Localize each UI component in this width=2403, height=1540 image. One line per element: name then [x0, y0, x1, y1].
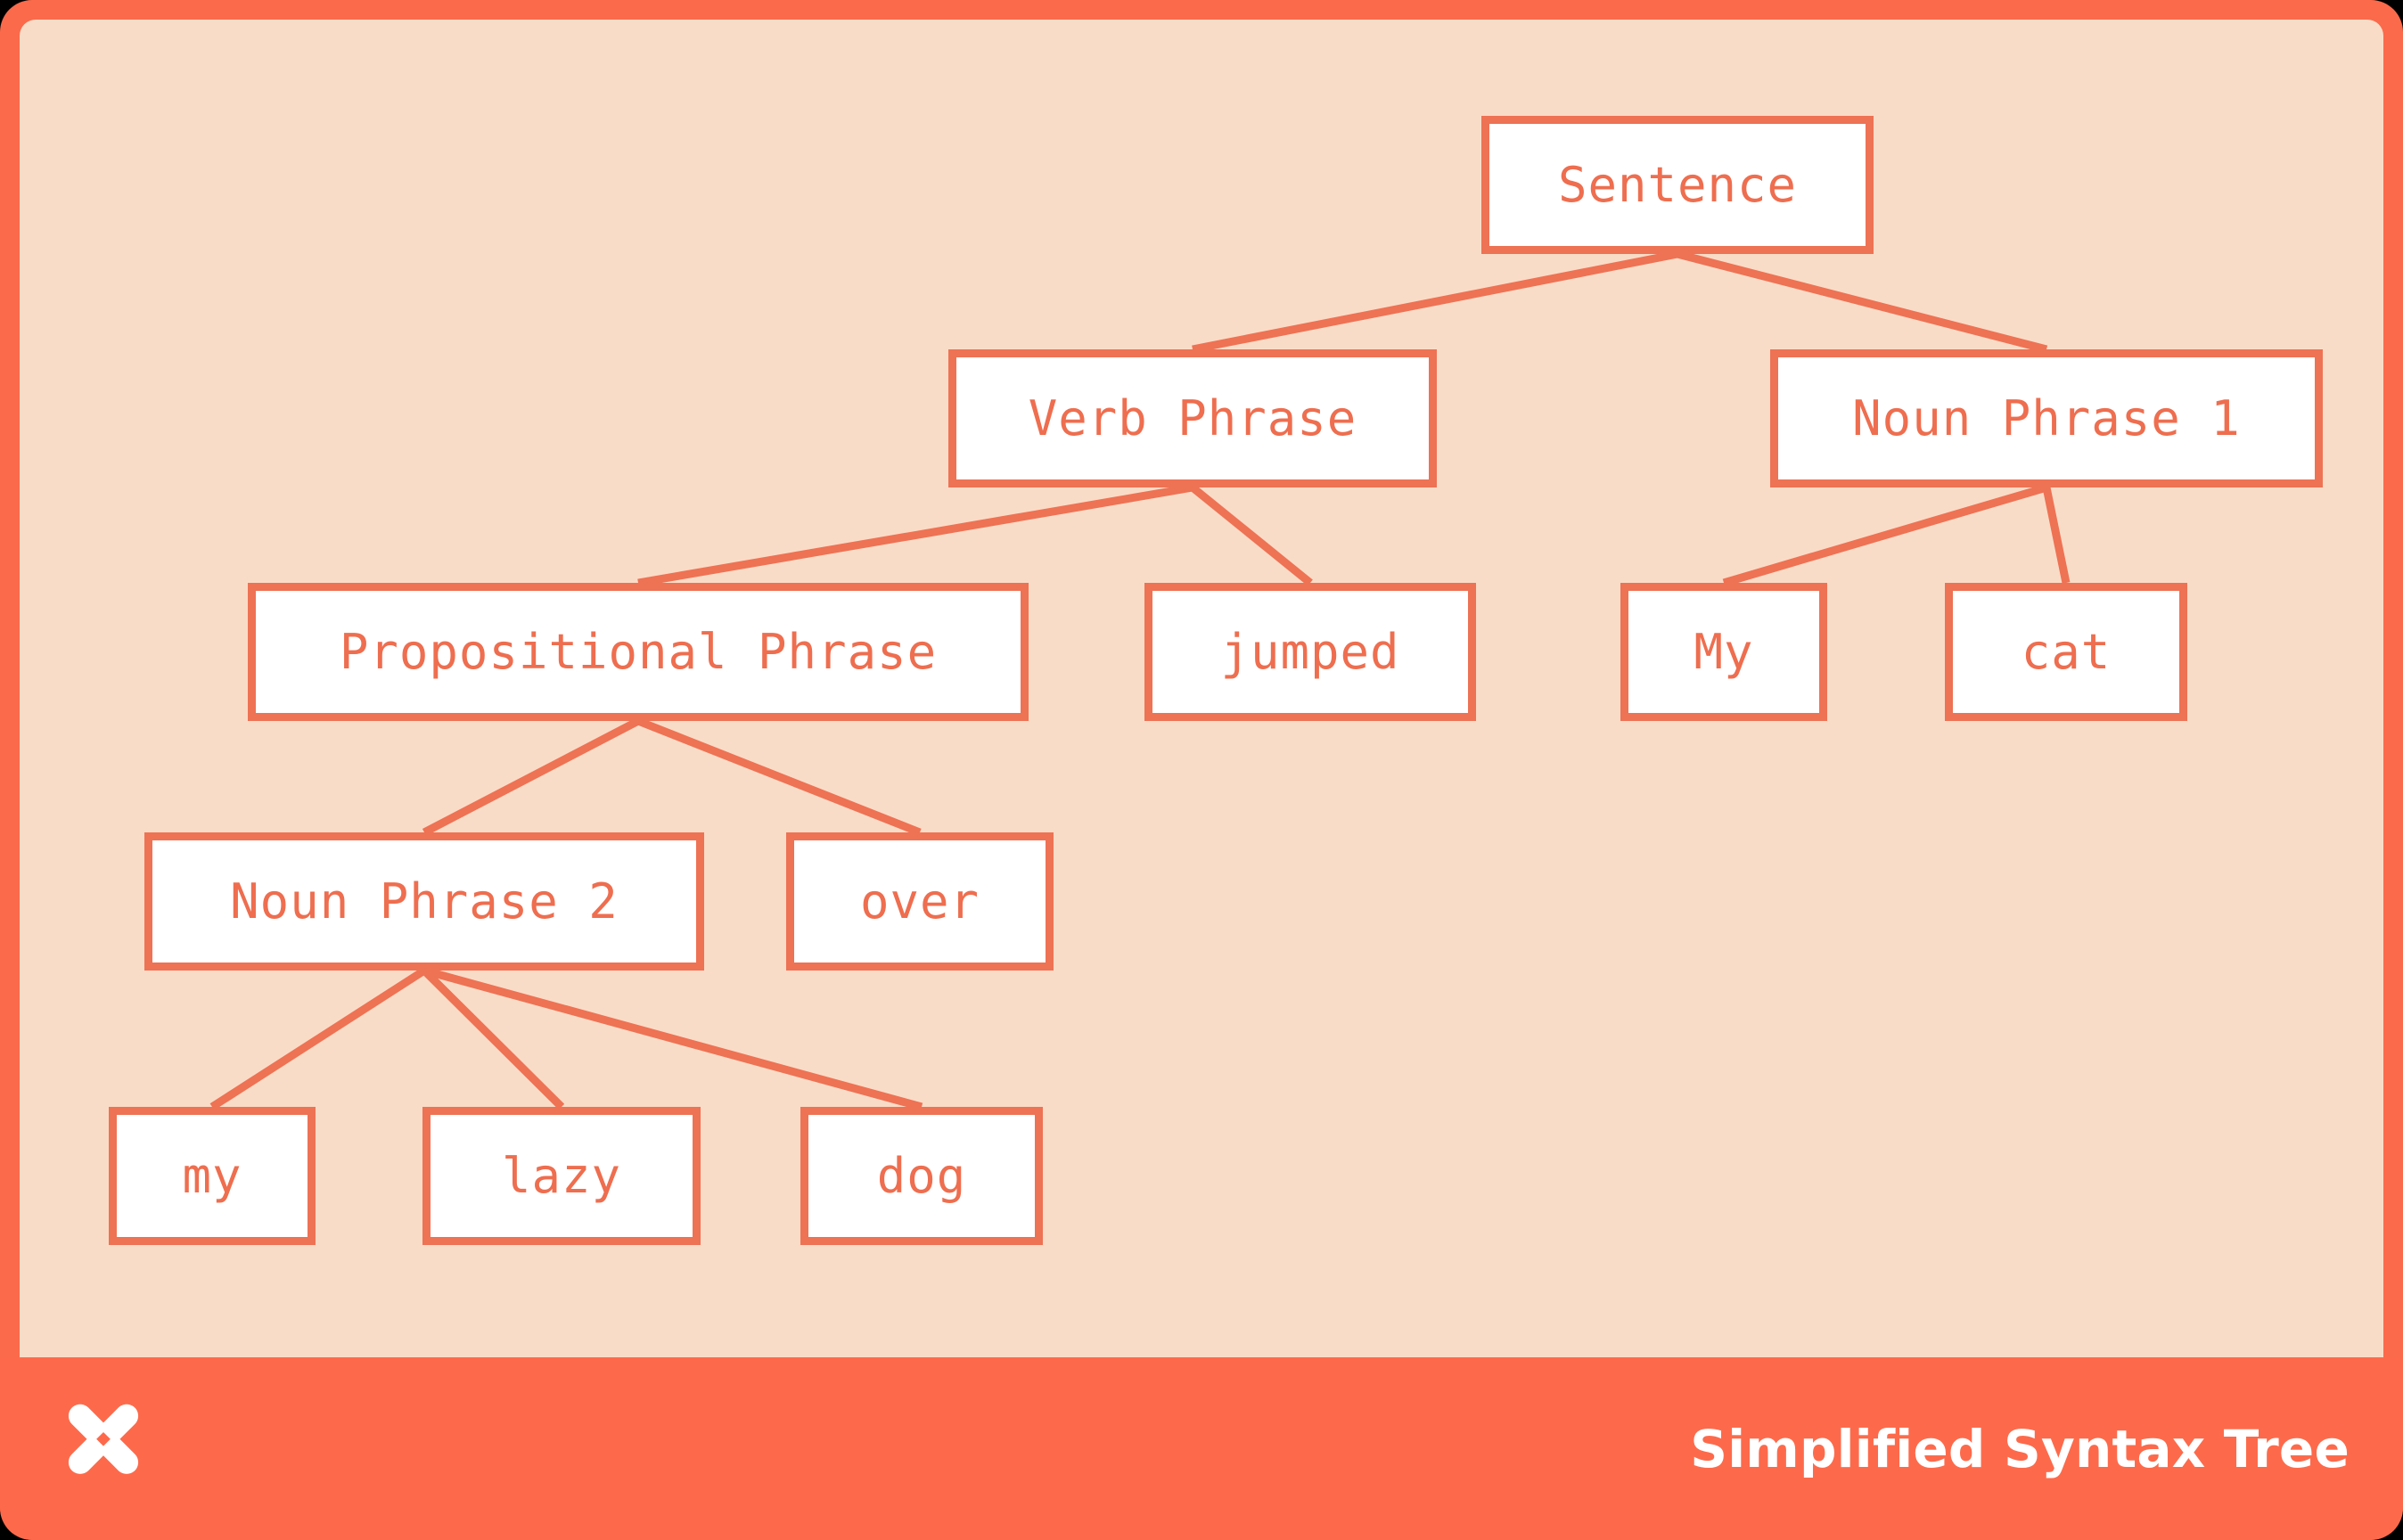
tree-edge	[638, 721, 920, 832]
tree-node-jumped[interactable]: jumped	[1144, 583, 1476, 721]
tree-node-label: jumped	[1220, 628, 1399, 676]
tree-node-np1[interactable]: Noun Phrase 1	[1770, 349, 2323, 487]
tree-edge	[1193, 487, 1310, 583]
tree-node-label: Propositional Phrase	[340, 628, 937, 676]
tree-node-cat[interactable]: cat	[1945, 583, 2187, 721]
tree-node-label: over	[860, 878, 980, 926]
tree-node-dog[interactable]: dog	[800, 1107, 1043, 1245]
tree-node-label: lazy	[502, 1152, 621, 1200]
tree-node-np2[interactable]: Noun Phrase 2	[144, 832, 704, 971]
tree-edge	[1677, 254, 2046, 349]
tree-edge	[424, 971, 922, 1107]
tree-node-over[interactable]: over	[786, 832, 1054, 971]
tree-node-label: Noun Phrase 1	[1852, 395, 2241, 443]
tree-node-my-leaf[interactable]: my	[109, 1107, 316, 1245]
tree-node-my-det[interactable]: My	[1620, 583, 1827, 721]
tree-node-sentence[interactable]: Sentence	[1481, 116, 1874, 254]
tree-edge	[1193, 254, 1677, 349]
tree-node-label: Noun Phrase 2	[230, 878, 619, 926]
tree-node-label: Sentence	[1558, 161, 1797, 209]
tree-node-label: My	[1694, 628, 1753, 676]
tree-node-label: my	[182, 1152, 242, 1200]
tree-edge	[212, 971, 424, 1107]
tree-edge	[638, 487, 1193, 583]
tree-node-label: dog	[877, 1152, 967, 1200]
tree-edge	[2046, 487, 2066, 583]
tree-node-lazy[interactable]: lazy	[422, 1107, 701, 1245]
tree-node-vp[interactable]: Verb Phrase	[948, 349, 1437, 487]
footer-title: Simplified Syntax Tree	[1690, 1419, 2350, 1479]
brand-footer: Simplified Syntax Tree	[0, 1357, 2403, 1540]
x-star-logo-icon	[53, 1399, 153, 1499]
tree-node-label: cat	[2022, 628, 2112, 676]
card-frame: SentenceVerb PhraseNoun Phrase 1Proposit…	[0, 0, 2403, 1540]
tree-edge	[424, 721, 638, 832]
tree-stage: SentenceVerb PhraseNoun Phrase 1Proposit…	[20, 20, 2383, 1357]
diagram-canvas: SentenceVerb PhraseNoun Phrase 1Proposit…	[0, 0, 2403, 1540]
tree-node-pp[interactable]: Propositional Phrase	[248, 583, 1029, 721]
tree-edge	[1724, 487, 2046, 583]
tree-node-label: Verb Phrase	[1029, 395, 1357, 443]
